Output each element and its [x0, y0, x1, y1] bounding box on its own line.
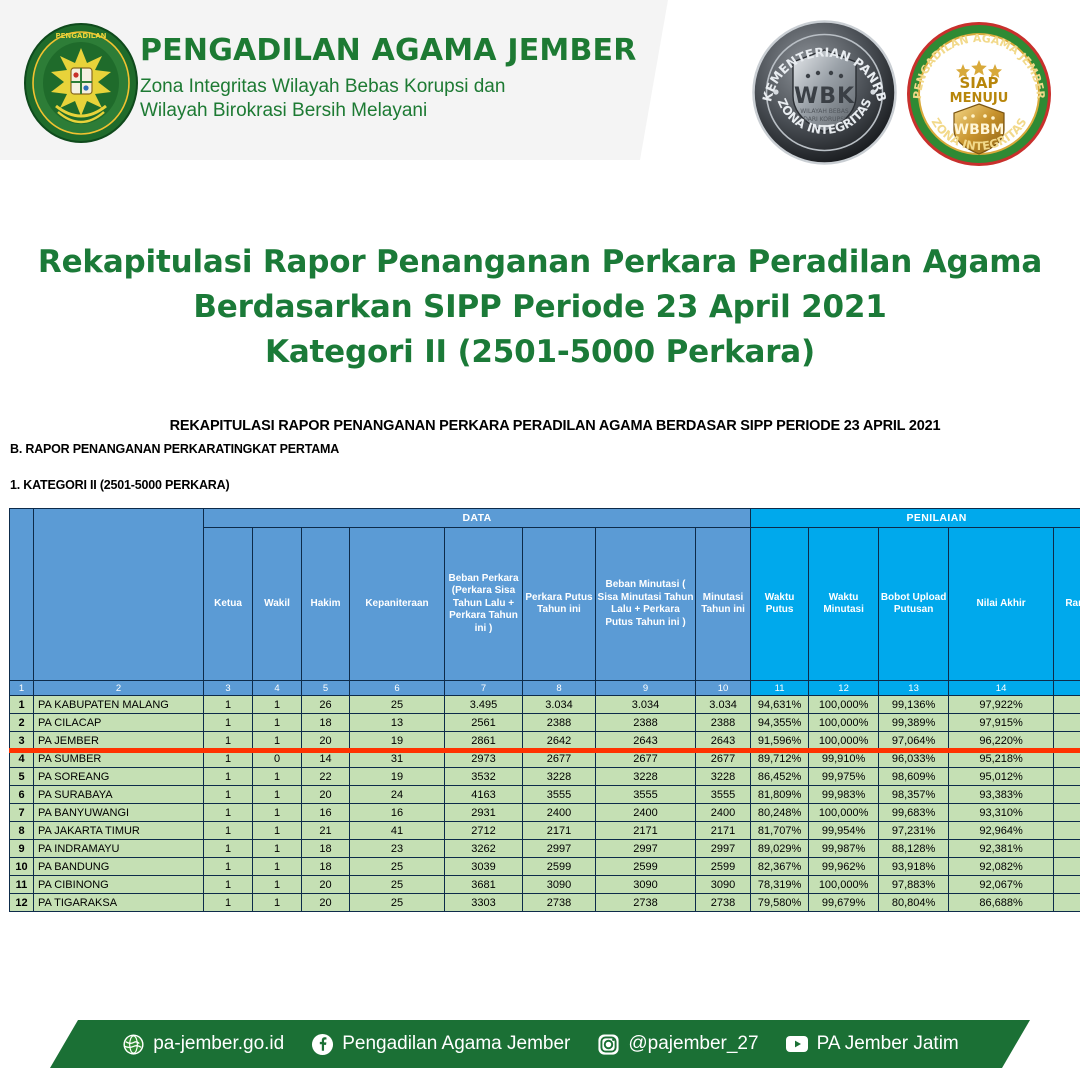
col-header-beban-perkara: Beban Perkara (Perkara Sisa Tahun Lalu +…	[445, 528, 523, 681]
page-title-line2: Berdasarkan SIPP Periode 23 April 2021	[0, 285, 1080, 330]
cell-satuan-kerja: PA SOREANG	[34, 768, 204, 786]
cell-rangking: 2	[1054, 714, 1080, 732]
colnum-8: 8	[523, 681, 596, 696]
cell-rangking: 5	[1054, 768, 1080, 786]
cell-beban-minutasi: 3090	[596, 876, 696, 894]
col-header-rangking: Rangking	[1054, 528, 1080, 681]
footer-label-instagram: @pajember_27	[628, 1033, 758, 1055]
col-header-wakil: Wakil	[253, 528, 302, 681]
cell-satuan-kerja: PA JAKARTA TIMUR	[34, 822, 204, 840]
cell-ketua: 1	[204, 768, 253, 786]
cell-waktu-minutasi: 99,987%	[809, 840, 879, 858]
cell-bobot-upload: 80,804%	[879, 894, 949, 912]
cell-wakil: 1	[253, 840, 302, 858]
table-row: 11PA CIBINONG112025368130903090309078,31…	[10, 876, 1080, 894]
wbk-zona-integritas-badge-icon: WBK WILAYAH BEBAS DARI KORUPSI KEMENTERI…	[752, 20, 897, 165]
footer-label-youtube: PA Jember Jatim	[817, 1033, 959, 1055]
cell-waktu-putus: 80,248%	[751, 804, 809, 822]
col-header-nilai-akhir: Nilai Akhir	[949, 528, 1054, 681]
cell-wakil: 1	[253, 786, 302, 804]
cell-nilai-akhir: 92,381%	[949, 840, 1054, 858]
cell-kepaniteraan: 24	[350, 786, 445, 804]
cell-beban-perkara: 4163	[445, 786, 523, 804]
footer-social-list: pa-jember.go.id Pengadilan Agama Jember	[50, 1020, 1030, 1068]
cell-satuan-kerja: PA BANYUWANGI	[34, 804, 204, 822]
cell-nilai-akhir: 92,964%	[949, 822, 1054, 840]
colnum-11: 11	[751, 681, 809, 696]
cell-perkara-putus: 2171	[523, 822, 596, 840]
colnum-14: 14	[949, 681, 1054, 696]
col-header-kepaniteraan: Kepaniteraan	[350, 528, 445, 681]
cell-hakim: 22	[302, 768, 350, 786]
footer-label-facebook: Pengadilan Agama Jember	[342, 1033, 570, 1055]
recap-table: DATA PENILAIAN Ketua Wakil Hakim Kepanit…	[9, 508, 1080, 912]
cell-satuan-kerja: PA BANDUNG	[34, 858, 204, 876]
cell-perkara-putus: 2997	[523, 840, 596, 858]
colnum-10: 10	[696, 681, 751, 696]
cell-hakim: 26	[302, 696, 350, 714]
cell-hakim: 18	[302, 840, 350, 858]
cell-perkara-putus: 3.034	[523, 696, 596, 714]
sheet-caption-category: 1. KATEGORI II (2501-5000 PERKARA)	[0, 478, 1080, 492]
group-spacer-no	[10, 509, 34, 681]
svg-text:PENGADILAN: PENGADILAN	[55, 32, 106, 40]
colnum-6: 6	[350, 681, 445, 696]
cell-kepaniteraan: 25	[350, 696, 445, 714]
cell-nilai-akhir: 93,383%	[949, 786, 1054, 804]
cell-ketua: 1	[204, 876, 253, 894]
cell-perkara-putus: 2738	[523, 894, 596, 912]
cell-rangking: 8	[1054, 822, 1080, 840]
cell-kepaniteraan: 25	[350, 876, 445, 894]
cell-no: 12	[10, 894, 34, 912]
footer-item-instagram[interactable]: @pajember_27	[596, 1032, 758, 1056]
col-header-waktu-minutasi: Waktu Minutasi	[809, 528, 879, 681]
cell-ketua: 1	[204, 840, 253, 858]
svg-text:WILAYAH BEBAS: WILAYAH BEBAS	[800, 108, 849, 115]
cell-hakim: 18	[302, 858, 350, 876]
cell-no: 10	[10, 858, 34, 876]
table-row: 10PA BANDUNG111825303925992599259982,367…	[10, 858, 1080, 876]
cell-nilai-akhir: 95,012%	[949, 768, 1054, 786]
cell-waktu-minutasi: 99,962%	[809, 858, 879, 876]
cell-waktu-putus: 94,631%	[751, 696, 809, 714]
footer-label-website: pa-jember.go.id	[153, 1033, 284, 1055]
cell-beban-minutasi: 2599	[596, 858, 696, 876]
cell-rangking: 9	[1054, 840, 1080, 858]
colnum-9: 9	[596, 681, 696, 696]
cell-waktu-minutasi: 99,983%	[809, 786, 879, 804]
youtube-icon	[785, 1032, 809, 1056]
cell-ketua: 1	[204, 804, 253, 822]
cell-minutasi: 2171	[696, 822, 751, 840]
col-header-beban-minutasi: Beban Minutasi ( Sisa Minutasi Tahun Lal…	[596, 528, 696, 681]
cell-kepaniteraan: 16	[350, 804, 445, 822]
org-tagline-line1: Zona Integritas Wilayah Bebas Korupsi da…	[140, 75, 660, 100]
cell-perkara-putus: 2400	[523, 804, 596, 822]
cell-bobot-upload: 98,357%	[879, 786, 949, 804]
cell-no: 9	[10, 840, 34, 858]
cell-nilai-akhir: 97,915%	[949, 714, 1054, 732]
cell-nilai-akhir: 92,067%	[949, 876, 1054, 894]
cell-kepaniteraan: 19	[350, 768, 445, 786]
cell-rangking: 6	[1054, 786, 1080, 804]
cell-bobot-upload: 99,136%	[879, 696, 949, 714]
footer-item-website[interactable]: pa-jember.go.id	[121, 1032, 284, 1056]
colnum-15: 15	[1054, 681, 1080, 696]
cell-bobot-upload: 93,918%	[879, 858, 949, 876]
cell-waktu-putus: 81,707%	[751, 822, 809, 840]
cell-beban-minutasi: 2171	[596, 822, 696, 840]
cell-beban-perkara: 3532	[445, 768, 523, 786]
cell-bobot-upload: 97,231%	[879, 822, 949, 840]
cell-satuan-kerja: PA CILACAP	[34, 714, 204, 732]
cell-beban-minutasi: 3555	[596, 786, 696, 804]
col-header-bobot-upload: Bobot Upload Putusan	[879, 528, 949, 681]
cell-kepaniteraan: 25	[350, 858, 445, 876]
cell-bobot-upload: 99,683%	[879, 804, 949, 822]
cell-nilai-akhir: 93,310%	[949, 804, 1054, 822]
cell-waktu-putus: 81,809%	[751, 786, 809, 804]
cell-beban-minutasi: 3.034	[596, 696, 696, 714]
cell-no: 5	[10, 768, 34, 786]
cell-beban-perkara: 2931	[445, 804, 523, 822]
table-body: 1PA KABUPATEN MALANG1126253.4953.0343.03…	[10, 696, 1080, 912]
cell-waktu-putus: 86,452%	[751, 768, 809, 786]
cell-minutasi: 2997	[696, 840, 751, 858]
group-header-data: DATA	[204, 509, 751, 528]
cell-kepaniteraan: 41	[350, 822, 445, 840]
colnum-5: 5	[302, 681, 350, 696]
cell-no: 2	[10, 714, 34, 732]
cell-minutasi: 3090	[696, 876, 751, 894]
cell-bobot-upload: 88,128%	[879, 840, 949, 858]
table-row: 1PA KABUPATEN MALANG1126253.4953.0343.03…	[10, 696, 1080, 714]
cell-ketua: 1	[204, 696, 253, 714]
cell-no: 11	[10, 876, 34, 894]
cell-bobot-upload: 99,389%	[879, 714, 949, 732]
header-text-block: PENGADILAN AGAMA JEMBER Zona Integritas …	[140, 35, 660, 124]
cell-waktu-putus: 78,319%	[751, 876, 809, 894]
cell-ketua: 1	[204, 786, 253, 804]
cell-waktu-minutasi: 100,000%	[809, 876, 879, 894]
cell-minutasi: 3555	[696, 786, 751, 804]
cell-perkara-putus: 3555	[523, 786, 596, 804]
table-row: 2PA CILACAP111813256123882388238894,355%…	[10, 714, 1080, 732]
globe-icon	[121, 1032, 145, 1056]
cell-rangking: 11	[1054, 876, 1080, 894]
sheet-caption: REKAPITULASI RAPOR PENANGANAN PERKARA PE…	[0, 418, 1080, 492]
cell-rangking: 7	[1054, 804, 1080, 822]
cell-wakil: 1	[253, 696, 302, 714]
cell-bobot-upload: 97,883%	[879, 876, 949, 894]
cell-kepaniteraan: 25	[350, 894, 445, 912]
col-header-perkara-putus: Perkara Putus Tahun ini	[523, 528, 596, 681]
cell-beban-perkara: 2712	[445, 822, 523, 840]
cell-wakil: 1	[253, 768, 302, 786]
cell-satuan-kerja: PA SURABAYA	[34, 786, 204, 804]
cell-satuan-kerja: PA TIGARAKSA	[34, 894, 204, 912]
org-tagline: Zona Integritas Wilayah Bebas Korupsi da…	[140, 75, 660, 124]
cell-waktu-putus: 82,367%	[751, 858, 809, 876]
cell-hakim: 20	[302, 786, 350, 804]
cell-beban-perkara: 3681	[445, 876, 523, 894]
page-header: PENGADILAN PENGADILAN AGAMA JEMBER Zona …	[0, 0, 1080, 165]
cell-nilai-akhir: 92,082%	[949, 858, 1054, 876]
table-column-number-row: 1 2 3 4 5 6 7 8 9 10 11 12 13 14 15	[10, 681, 1080, 696]
cell-perkara-putus: 3090	[523, 876, 596, 894]
colnum-4: 4	[253, 681, 302, 696]
cell-wakil: 1	[253, 804, 302, 822]
instagram-icon	[596, 1032, 620, 1056]
table-row: 6PA SURABAYA112024416335553555355581,809…	[10, 786, 1080, 804]
cell-waktu-minutasi: 100,000%	[809, 804, 879, 822]
colnum-2: 2	[34, 681, 204, 696]
cell-rangking: 12	[1054, 894, 1080, 912]
recap-table-container: DATA PENILAIAN Ketua Wakil Hakim Kepanit…	[9, 508, 1072, 912]
footer-item-facebook[interactable]: Pengadilan Agama Jember	[310, 1032, 570, 1056]
svg-text:SIAP: SIAP	[960, 74, 999, 92]
page-title-line1: Rekapitulasi Rapor Penanganan Perkara Pe…	[0, 240, 1080, 285]
cell-satuan-kerja: PA KABUPATEN MALANG	[34, 696, 204, 714]
cell-wakil: 1	[253, 876, 302, 894]
cell-waktu-minutasi: 99,954%	[809, 822, 879, 840]
cell-wakil: 1	[253, 822, 302, 840]
cell-beban-minutasi: 2738	[596, 894, 696, 912]
cell-no: 7	[10, 804, 34, 822]
cell-ketua: 1	[204, 822, 253, 840]
table-row: 8PA JAKARTA TIMUR11214127122171217121718…	[10, 822, 1080, 840]
cell-wakil: 1	[253, 714, 302, 732]
svg-text:WBK: WBK	[794, 84, 855, 109]
jember-highlight-line	[9, 748, 1080, 753]
cell-minutasi: 3228	[696, 768, 751, 786]
cell-kepaniteraan: 23	[350, 840, 445, 858]
cell-beban-minutasi: 2400	[596, 804, 696, 822]
cell-hakim: 21	[302, 822, 350, 840]
cell-hakim: 20	[302, 876, 350, 894]
col-header-hakim: Hakim	[302, 528, 350, 681]
cell-wakil: 1	[253, 894, 302, 912]
cell-wakil: 1	[253, 858, 302, 876]
table-group-header-row: DATA PENILAIAN	[10, 509, 1080, 528]
cell-beban-minutasi: 3228	[596, 768, 696, 786]
col-header-ketua: Ketua	[204, 528, 253, 681]
colnum-12: 12	[809, 681, 879, 696]
cell-ketua: 1	[204, 858, 253, 876]
sheet-caption-section: B. RAPOR PENANGANAN PERKARATINGKAT PERTA…	[0, 442, 1080, 456]
cell-minutasi: 2388	[696, 714, 751, 732]
cell-satuan-kerja: PA INDRAMAYU	[34, 840, 204, 858]
group-header-penilaian: PENILAIAN	[751, 509, 1080, 528]
page-footer: pa-jember.go.id Pengadilan Agama Jember	[0, 1010, 1080, 1080]
cell-no: 1	[10, 696, 34, 714]
cell-waktu-minutasi: 99,975%	[809, 768, 879, 786]
table-row: 9PA INDRAMAYU111823326229972997299789,02…	[10, 840, 1080, 858]
cell-perkara-putus: 3228	[523, 768, 596, 786]
page-title-line3: Kategori II (2501-5000 Perkara)	[0, 330, 1080, 375]
cell-no: 8	[10, 822, 34, 840]
cell-beban-minutasi: 2997	[596, 840, 696, 858]
cell-hakim: 20	[302, 894, 350, 912]
cell-minutasi: 2400	[696, 804, 751, 822]
cell-satuan-kerja: PA CIBINONG	[34, 876, 204, 894]
cell-waktu-putus: 79,580%	[751, 894, 809, 912]
footer-item-youtube[interactable]: PA Jember Jatim	[785, 1032, 959, 1056]
group-spacer-satuan	[34, 509, 204, 681]
table-row: 12PA TIGARAKSA112025330327382738273879,5…	[10, 894, 1080, 912]
cell-minutasi: 2599	[696, 858, 751, 876]
cell-waktu-minutasi: 100,000%	[809, 696, 879, 714]
cell-ketua: 1	[204, 894, 253, 912]
org-tagline-line2: Wilayah Birokrasi Bersih Melayani	[140, 99, 660, 124]
colnum-3: 3	[204, 681, 253, 696]
cell-waktu-minutasi: 100,000%	[809, 714, 879, 732]
cell-waktu-putus: 94,355%	[751, 714, 809, 732]
col-header-minutasi: Minutasi Tahun ini	[696, 528, 751, 681]
cell-perkara-putus: 2388	[523, 714, 596, 732]
colnum-7: 7	[445, 681, 523, 696]
colnum-13: 13	[879, 681, 949, 696]
col-header-waktu-putus: Waktu Putus	[751, 528, 809, 681]
sheet-caption-title: REKAPITULASI RAPOR PENANGANAN PERKARA PE…	[0, 418, 1080, 434]
cell-hakim: 18	[302, 714, 350, 732]
org-title: PENGADILAN AGAMA JEMBER	[140, 35, 660, 67]
cell-nilai-akhir: 86,688%	[949, 894, 1054, 912]
table-row: 7PA BANYUWANGI111616293124002400240080,2…	[10, 804, 1080, 822]
cell-waktu-minutasi: 99,679%	[809, 894, 879, 912]
cell-beban-perkara: 3039	[445, 858, 523, 876]
wbbm-zona-integritas-badge-icon: SIAP MENUJU WBBM PENGADILAN AGAMA JEMBER…	[905, 20, 1053, 168]
cell-beban-perkara: 3.495	[445, 696, 523, 714]
cell-waktu-putus: 89,029%	[751, 840, 809, 858]
cell-bobot-upload: 98,609%	[879, 768, 949, 786]
pengadilan-agama-jember-seal-icon: PENGADILAN	[22, 22, 140, 144]
cell-no: 6	[10, 786, 34, 804]
cell-minutasi: 2738	[696, 894, 751, 912]
cell-ketua: 1	[204, 714, 253, 732]
cell-perkara-putus: 2599	[523, 858, 596, 876]
cell-beban-minutasi: 2388	[596, 714, 696, 732]
cell-beban-perkara: 3303	[445, 894, 523, 912]
colnum-1: 1	[10, 681, 34, 696]
cell-nilai-akhir: 97,922%	[949, 696, 1054, 714]
cell-rangking: 1	[1054, 696, 1080, 714]
page-title: Rekapitulasi Rapor Penanganan Perkara Pe…	[0, 240, 1080, 375]
cell-minutasi: 3.034	[696, 696, 751, 714]
table-row: 5PA SOREANG112219353232283228322886,452%…	[10, 768, 1080, 786]
cell-kepaniteraan: 13	[350, 714, 445, 732]
cell-beban-perkara: 3262	[445, 840, 523, 858]
cell-beban-perkara: 2561	[445, 714, 523, 732]
facebook-icon	[310, 1032, 334, 1056]
cell-rangking: 10	[1054, 858, 1080, 876]
cell-hakim: 16	[302, 804, 350, 822]
